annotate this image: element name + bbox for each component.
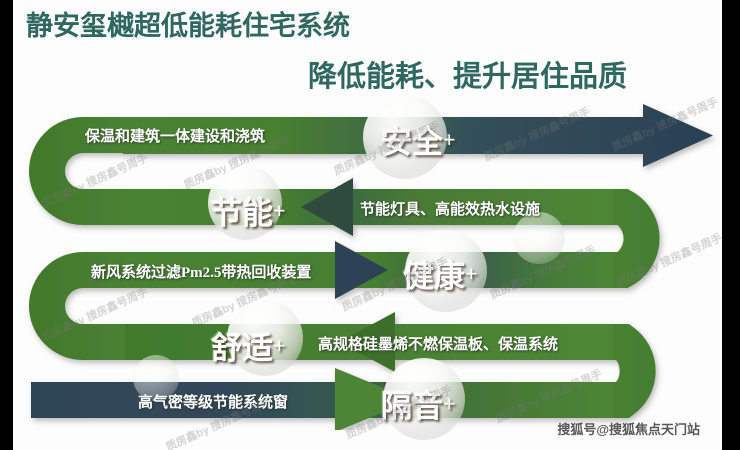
row-5-band (31, 382, 613, 418)
row-4-description: 高规格硅墨烯不燃保温板、保温系统 (318, 333, 558, 354)
row-1-label-text: 安全 (381, 125, 443, 160)
row-5-label: 隔音+ (381, 381, 456, 426)
row-2-label: 节能+ (211, 188, 286, 233)
row-4-label-text: 舒适 (211, 331, 273, 366)
screenshot-root: 静安玺樾超低能耗住宅系统 降低能耗、提升居住品质 (0, 0, 740, 450)
row-2-arrowhead-left (301, 178, 353, 236)
row-3-label: 健康+ (403, 251, 478, 296)
row-3-description: 新风系统过滤Pm2.5带热回收装置 (91, 261, 311, 282)
row-2-label-plus: + (273, 198, 286, 223)
page-title: 静安玺樾超低能耗住宅系统 (26, 4, 350, 43)
row-5-description: 高气密等级节能系统窗 (138, 391, 288, 412)
row-2-label-text: 节能 (211, 196, 273, 231)
row-5-label-text: 隔音 (381, 389, 443, 424)
row-1-description: 保温和建筑一体建设和浇筑 (85, 125, 265, 146)
row-4-label: 舒适+ (211, 323, 286, 368)
row-3-label-plus: + (465, 261, 478, 286)
row-1-label-plus: + (443, 127, 456, 152)
row-5-label-plus: + (443, 391, 456, 416)
row-4-label-plus: + (273, 333, 286, 358)
row-3-arrowhead-right (335, 241, 388, 299)
footer-watermark: 搜狐号@搜狐焦点天门站 (557, 419, 700, 438)
row-2-description: 节能灯具、高能效热水设施 (360, 198, 540, 219)
energy-system-flow-diagram: 保温和建筑一体建设和浇筑 安全+ 节能+ 节能灯具、高能效热水设施 新风系统过滤… (13, 100, 722, 430)
row-3-label-text: 健康 (403, 259, 465, 294)
row-1-label: 安全+ (381, 117, 456, 162)
slide-canvas: 静安玺樾超低能耗住宅系统 降低能耗、提升居住品质 (13, 0, 722, 450)
page-subtitle: 降低能耗、提升居住品质 (308, 53, 627, 95)
letterbox-right (722, 0, 740, 450)
letterbox-left (0, 0, 13, 450)
